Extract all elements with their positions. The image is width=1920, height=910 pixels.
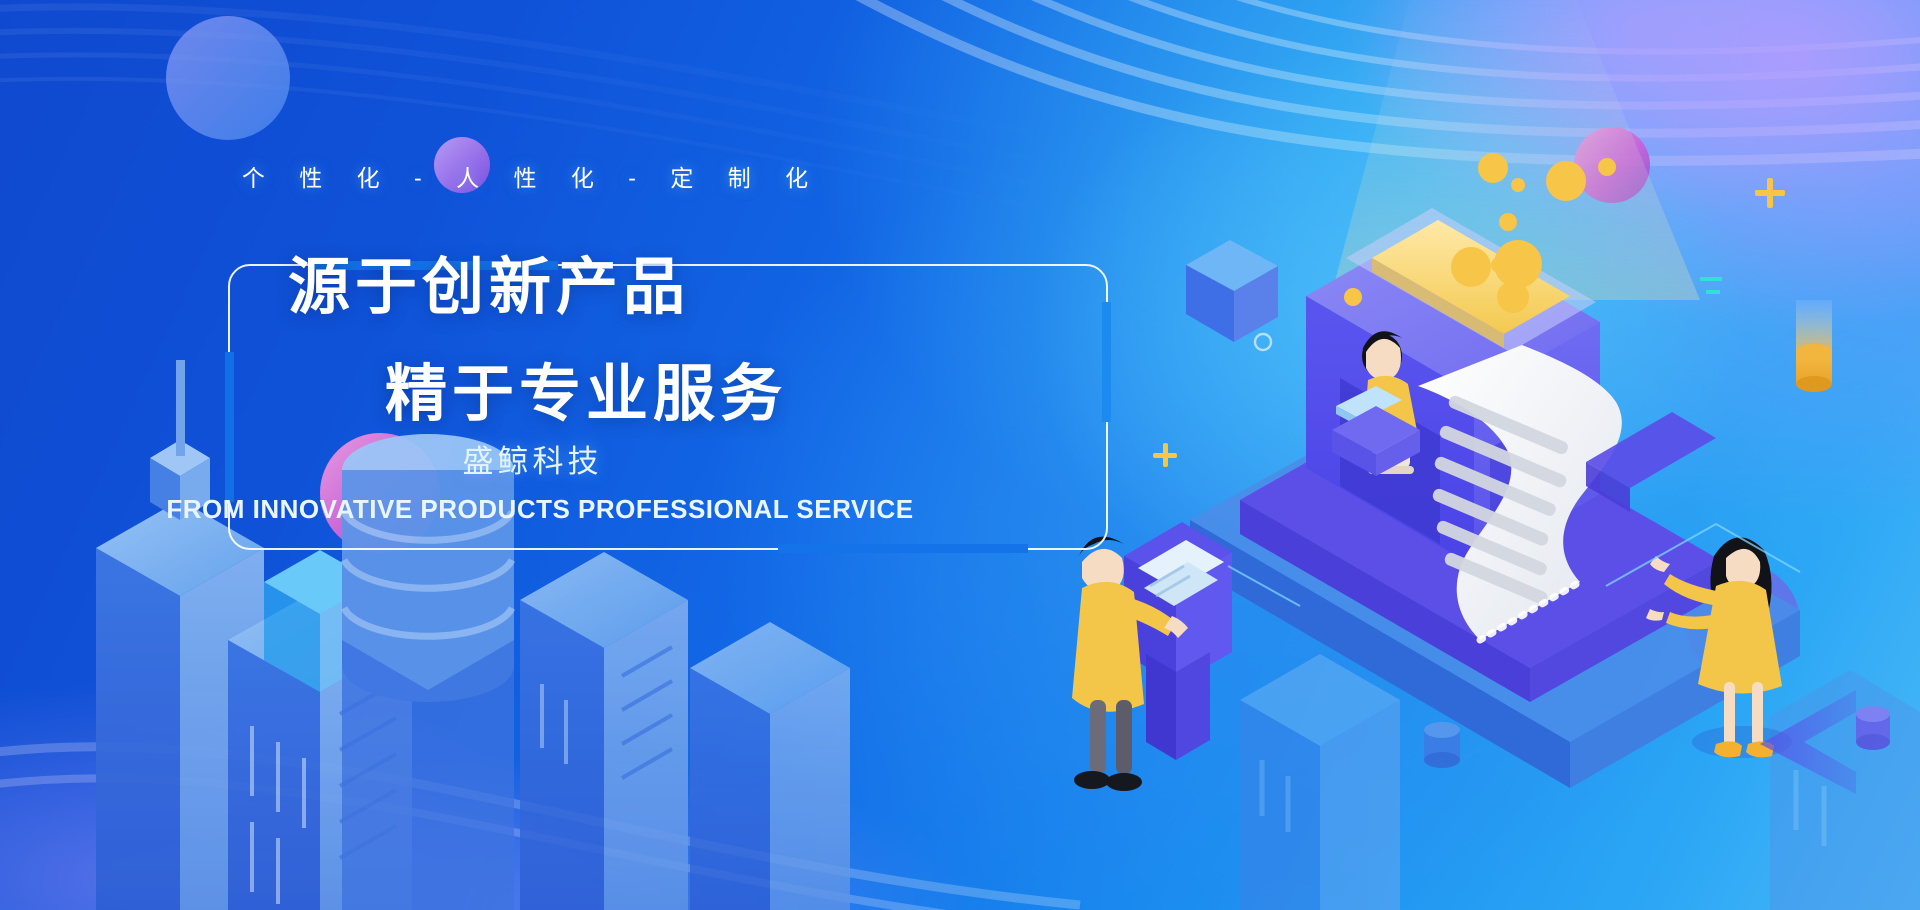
cylinder-blue-small: [1424, 722, 1460, 768]
cylinder-violet-small: [1856, 706, 1890, 750]
tick-marker-teal: [1700, 279, 1722, 292]
glow-particles: [1344, 153, 1616, 313]
sphere-violet: [1684, 564, 1800, 680]
building-far-right: [1240, 654, 1400, 910]
machine-glow-tray: [1346, 208, 1596, 352]
platform-base: [1190, 392, 1800, 788]
ring-marker: [1255, 334, 1271, 350]
hero-banner: 个 性 化 - 人 性 化 - 定 制 化 源于创新产品 精于专业服务 盛鲸科技…: [0, 0, 1920, 910]
platform-glow-lines: [1228, 524, 1800, 606]
cylinder-yellow: [1796, 300, 1832, 392]
platform-purple: [1240, 392, 1720, 702]
headline-line-1: 源于创新产品: [0, 236, 1065, 326]
paper-printout: [1418, 345, 1622, 640]
tagline: 个 性 化 - 人 性 化 - 定 制 化: [0, 159, 1050, 193]
building-far-right-2: [1770, 670, 1920, 910]
isometric-machine: [1306, 224, 1600, 566]
cube-floating: [1186, 240, 1278, 342]
subtitle-english: FROM INNOVATIVE PRODUCTS PROFESSIONAL SE…: [0, 494, 1080, 525]
company-name: 盛鲸科技: [0, 436, 1065, 481]
headline-line-2: 精于专业服务: [0, 343, 1065, 433]
arrow-purple: [1586, 412, 1716, 512]
plus-marker-yellow: [1153, 178, 1785, 467]
sphere-magenta-2: [1574, 127, 1650, 203]
floor-arrow: [1760, 690, 1856, 794]
seated-woman-laptop: [1332, 331, 1420, 476]
standing-woman-yellow-dress: [1646, 537, 1792, 758]
text-content: 个 性 化 - 人 性 化 - 定 制 化 源于创新产品 精于专业服务 盛鲸科技…: [0, 0, 1130, 910]
